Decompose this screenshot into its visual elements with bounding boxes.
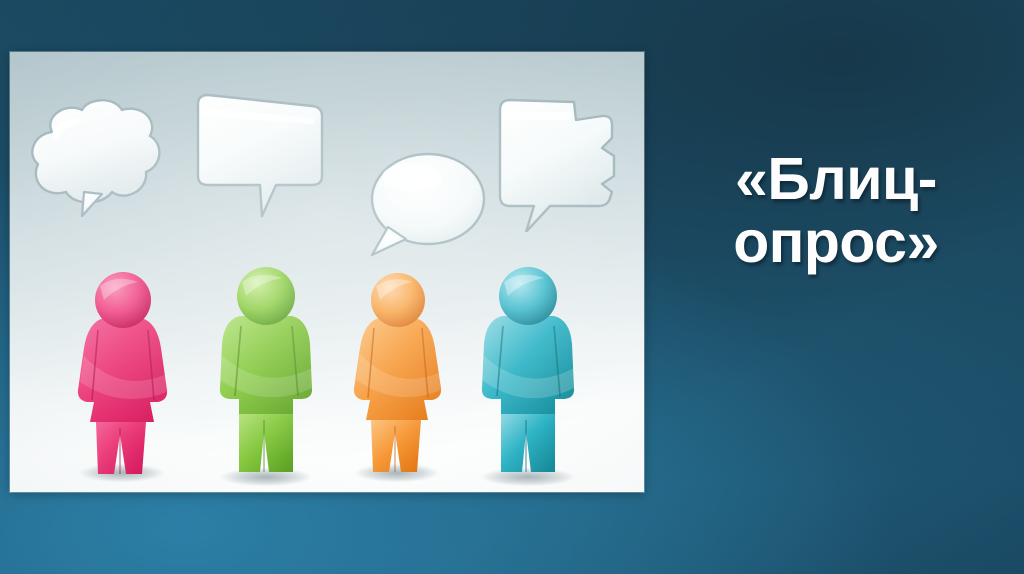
title-line-1: «Блиц-	[660, 148, 1012, 211]
green-male-figure	[206, 264, 326, 482]
slide-root: «Блиц- опрос»	[0, 0, 1024, 574]
blue-male-figure	[466, 264, 590, 482]
title-line-2: опрос»	[660, 211, 1012, 274]
people-group	[10, 52, 644, 492]
illustration-panel	[10, 52, 644, 492]
orange-female-figure	[344, 270, 452, 478]
page-title: «Блиц- опрос»	[660, 148, 1012, 273]
pink-female-figure	[68, 270, 178, 480]
